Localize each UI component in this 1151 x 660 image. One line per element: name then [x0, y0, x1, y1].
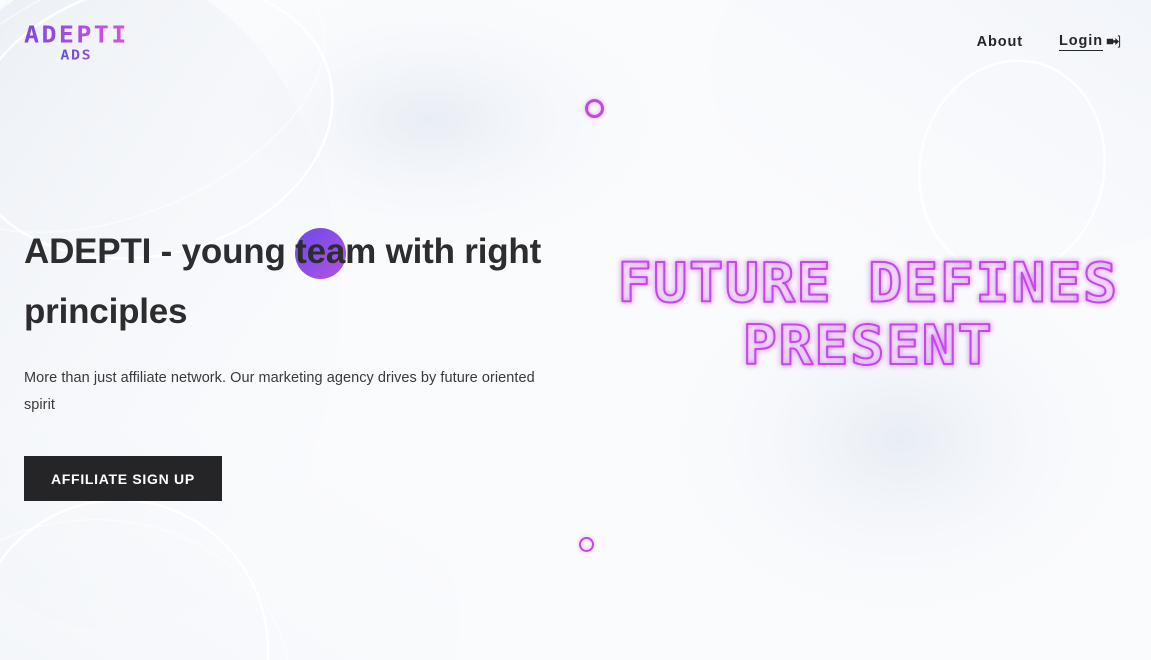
outline-ellipse-bottom-inner — [0, 503, 304, 660]
hero-section: ADEPTI - young team with right principle… — [24, 222, 584, 501]
neon-headline: FUTURE DEFINES PRESENT — [585, 252, 1151, 377]
page-title: ADEPTI - young team with right principle… — [24, 222, 584, 342]
nav-item-about[interactable]: About — [977, 34, 1023, 50]
affiliate-signup-button[interactable]: AFFILIATE SIGN UP — [24, 456, 222, 501]
outline-ellipse-bottomleft — [0, 481, 287, 660]
brand-logo[interactable]: ADEPTI ADS — [24, 22, 129, 63]
decorative-ring-bottom — [579, 537, 594, 552]
login-button[interactable]: Login — [1059, 33, 1121, 51]
main-navigation: About Login — [977, 33, 1121, 51]
login-label: Login — [1059, 33, 1103, 51]
brand-logo-main: ADEPTI — [24, 23, 129, 46]
site-header: ADEPTI ADS About Login — [0, 0, 1151, 78]
sign-in-icon — [1106, 34, 1121, 49]
decorative-ring-top — [585, 99, 604, 118]
brand-logo-sub: ADS — [60, 49, 92, 63]
neon-line-1: FUTURE DEFINES — [617, 252, 1118, 315]
hero-subtitle: More than just affiliate network. Our ma… — [24, 365, 564, 418]
neon-line-2: PRESENT — [743, 314, 994, 377]
